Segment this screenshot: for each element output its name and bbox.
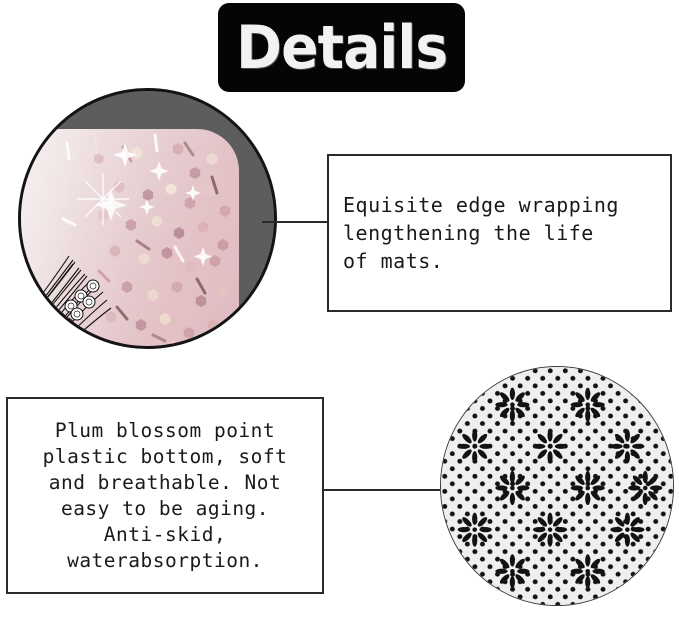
details-header-badge: Details	[218, 3, 465, 92]
perforation-pattern	[441, 367, 673, 605]
connector-line-top	[262, 221, 328, 223]
callout-edge-wrapping: Equisite edge wrapping lengthening the l…	[327, 154, 672, 312]
callout-plastic-bottom: Plum blossom point plastic bottom, soft …	[6, 397, 324, 594]
connector-line-bottom	[323, 489, 440, 491]
page-title: Details	[236, 18, 447, 78]
glitter-mat-photo	[18, 88, 277, 349]
plastic-bottom-photo	[440, 366, 674, 606]
tassel-fringe-decoration	[18, 226, 145, 349]
callout-plastic-bottom-text: Plum blossom point plastic bottom, soft …	[14, 418, 316, 574]
callout-edge-wrapping-text: Equisite edge wrapping lengthening the l…	[343, 191, 656, 275]
